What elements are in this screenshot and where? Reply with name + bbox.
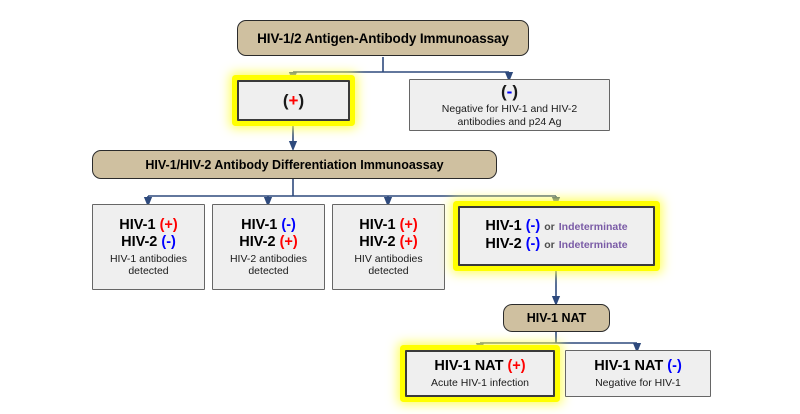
node-label: HIV-1/HIV-2 Antibody Differentiation Imm… (145, 158, 443, 172)
node-hiv1-hiv2-antibody-differentiation-immunoassay[interactable]: HIV-1/HIV-2 Antibody Differentiation Imm… (92, 150, 497, 179)
result-row-1: HIV-1 (+) (119, 217, 177, 234)
node-immunoassay-negative[interactable]: (-) Negative for HIV-1 and HIV-2 antibod… (409, 79, 610, 131)
node-sub-line-1: Negative for HIV-1 (595, 377, 681, 390)
node-sub-line-1: Negative for HIV-1 and HIV-2 (442, 103, 577, 116)
node-result-hiv1-hiv2-negative-or-indeterminate[interactable]: HIV-1 (-) or Indeterminate HIV-2 (-) or … (458, 206, 655, 266)
result-row-2: HIV-2 (+) (359, 234, 417, 251)
node-sub-line-2: detected (128, 265, 168, 278)
result-signs: HIV-1 (+) HIV-2 (+) (359, 217, 417, 251)
result-signs: HIV-1 (+) HIV-2 (-) (119, 217, 177, 251)
node-sub-line-1: HIV-1 antibodies (110, 253, 187, 266)
negative-symbol: (-) (501, 82, 518, 102)
node-sub-line-2: detected (368, 265, 408, 278)
node-result-hiv1-negative-hiv2-positive[interactable]: HIV-1 (-) HIV-2 (+) HIV-2 antibodies det… (212, 204, 325, 290)
node-sub-line-1: HIV antibodies (354, 253, 422, 266)
nat-result-row: HIV-1 NAT (+) (434, 358, 525, 375)
node-sub-line-2: antibodies and p24 Ag (458, 116, 562, 129)
node-immunoassay-positive[interactable]: (+) (237, 80, 350, 121)
node-sub-line-2: detected (248, 265, 288, 278)
result-row-2: HIV-2 (+) (239, 234, 297, 251)
node-sub-line-1: Acute HIV-1 infection (431, 377, 529, 390)
node-sub-line-1: HIV-2 antibodies (230, 253, 307, 266)
result-row-1: HIV-1 (-) or Indeterminate (485, 218, 627, 236)
node-hiv12-antigen-antibody-immunoassay[interactable]: HIV-1/2 Antigen-Antibody Immunoassay (237, 20, 529, 56)
positive-symbol: (+) (283, 91, 304, 111)
node-result-hiv1-positive-hiv2-negative[interactable]: HIV-1 (+) HIV-2 (-) HIV-1 antibodies det… (92, 204, 205, 290)
node-nat-negative[interactable]: HIV-1 NAT (-) Negative for HIV-1 (565, 350, 711, 397)
result-signs: HIV-1 (-) HIV-2 (+) (239, 217, 297, 251)
node-nat-positive-acute-infection[interactable]: HIV-1 NAT (+) Acute HIV-1 infection (405, 350, 555, 397)
result-row-1: HIV-1 (-) (241, 217, 296, 234)
nat-result-row: HIV-1 NAT (-) (594, 358, 682, 375)
node-hiv1-nat[interactable]: HIV-1 NAT (503, 304, 610, 332)
hiv-testing-algorithm-diagram: HIV-1/2 Antigen-Antibody Immunoassay (+)… (0, 0, 800, 414)
result-signs: HIV-1 (-) or Indeterminate HIV-2 (-) or … (485, 218, 627, 254)
plus-sign: + (289, 91, 299, 110)
node-result-hiv1-positive-hiv2-positive[interactable]: HIV-1 (+) HIV-2 (+) HIV antibodies detec… (332, 204, 445, 290)
result-row-1: HIV-1 (+) (359, 217, 417, 234)
node-label: HIV-1 NAT (527, 311, 587, 325)
result-row-2: HIV-2 (-) or Indeterminate (485, 236, 627, 254)
result-row-2: HIV-2 (-) (121, 234, 176, 251)
node-label: HIV-1/2 Antigen-Antibody Immunoassay (257, 31, 509, 46)
